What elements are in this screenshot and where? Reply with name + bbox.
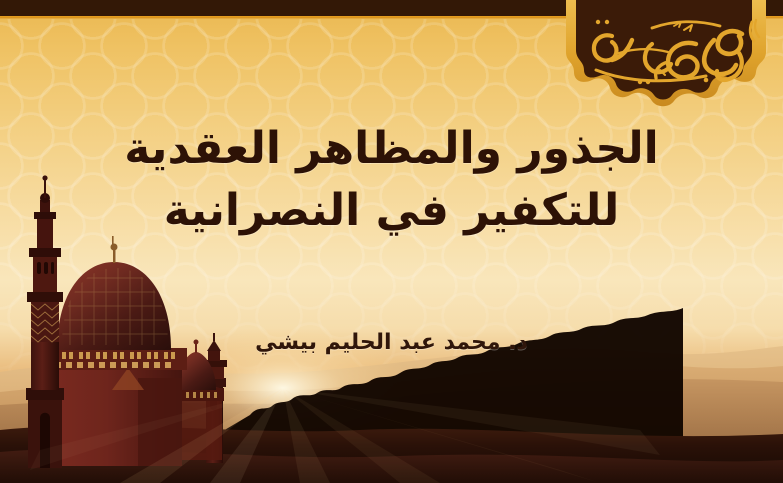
- page-title-line-1: الجذور والمظاهر العقدية: [0, 118, 783, 180]
- ornamental-badge-frame-icon: [556, 0, 778, 108]
- book-cover: الجذور والمظاهر العقدية للتكفير في النصر…: [0, 0, 783, 483]
- page-title-line-2: للتكفير في النصرانية: [0, 180, 783, 242]
- title-block: الجذور والمظاهر العقدية للتكفير في النصر…: [0, 118, 783, 243]
- author-name: د. محمد عبد الحليم بيشي: [0, 330, 783, 355]
- logo-badge[interactable]: [556, 0, 778, 108]
